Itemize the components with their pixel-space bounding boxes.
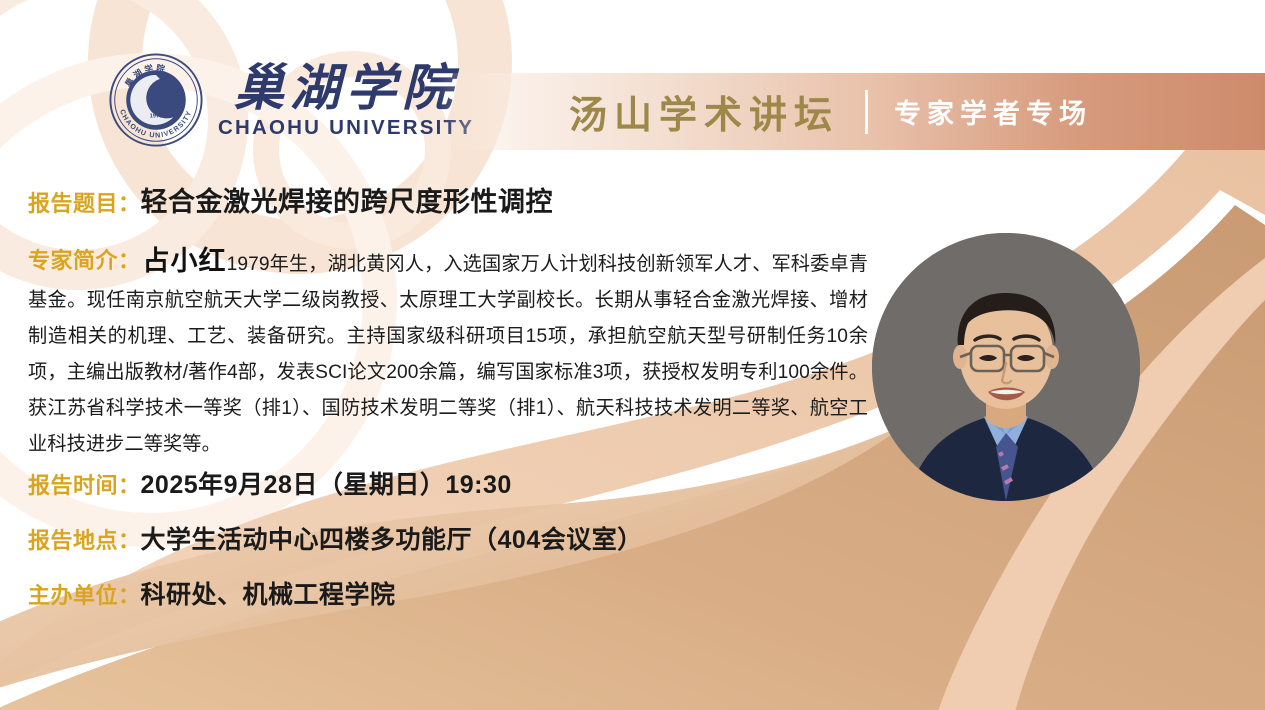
speaker-portrait: [872, 233, 1140, 501]
speaker-bio-body: 1979年生，湖北黄冈人，入选国家万人计划科技创新领军人才、军科委卓青基金。现任…: [28, 254, 868, 455]
lecture-venue-label: 报告地点：: [28, 523, 141, 555]
poster-content: 报告题目： 轻合金激光焊接的跨尺度形性调控 专家简介： 占小红1979年生，湖北…: [0, 0, 1265, 710]
lecture-time-value: 2025年9月28日（星期日）19:30: [141, 465, 512, 501]
lecture-host-label: 主办单位：: [28, 578, 141, 610]
lecture-venue-row: 报告地点： 大学生活动中心四楼多功能厅（404会议室）: [28, 520, 643, 556]
lecture-title-value: 轻合金激光焊接的跨尺度形性调控: [141, 180, 554, 219]
lecture-time-row: 报告时间： 2025年9月28日（星期日）19:30: [28, 465, 512, 501]
lecture-poster: 1977 巢 湖 学 院 CHAOHU UNIVERSITY 巢湖学院 CHAO…: [0, 0, 1265, 710]
speaker-bio-text: 占小红1979年生，湖北黄冈人，入选国家万人计划科技创新领军人才、军科委卓青基金…: [28, 243, 868, 463]
lecture-title-label: 报告题目：: [28, 186, 141, 218]
lecture-host-row: 主办单位： 科研处、机械工程学院: [28, 575, 396, 611]
speaker-name: 占小红: [143, 246, 227, 276]
lecture-time-label: 报告时间：: [28, 468, 141, 500]
lecture-title-row: 报告题目： 轻合金激光焊接的跨尺度形性调控: [28, 180, 553, 219]
speaker-bio-row: 专家简介： 占小红1979年生，湖北黄冈人，入选国家万人计划科技创新领军人才、军…: [28, 243, 868, 463]
lecture-host-value: 科研处、机械工程学院: [141, 575, 396, 611]
speaker-bio-label: 专家简介：: [28, 243, 141, 279]
lecture-venue-value: 大学生活动中心四楼多功能厅（404会议室）: [141, 520, 643, 556]
